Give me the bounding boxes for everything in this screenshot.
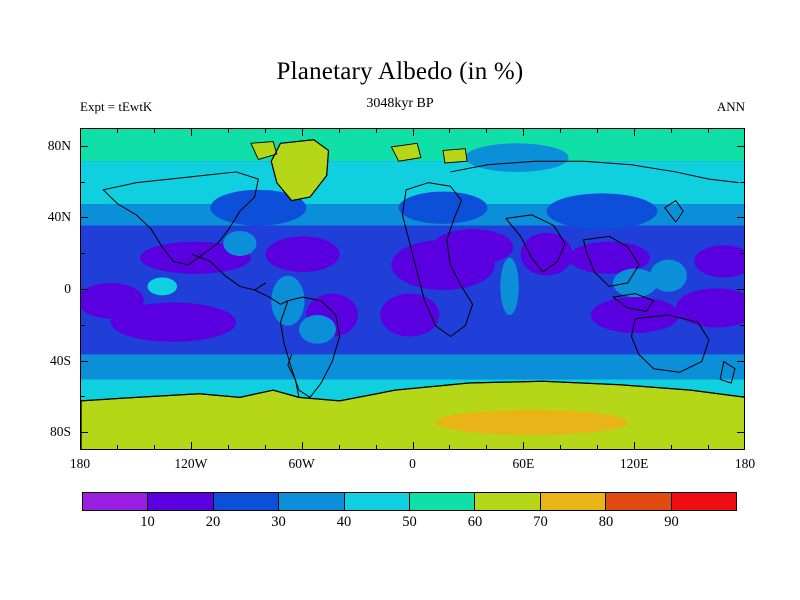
x-tick-top bbox=[376, 128, 377, 133]
albedo-map bbox=[81, 129, 745, 450]
y-tick bbox=[80, 325, 85, 326]
x-tick-top bbox=[523, 128, 524, 136]
x-axis-label: 180 bbox=[735, 456, 755, 472]
colorbar-tick-label: 80 bbox=[599, 514, 614, 531]
colorbar-band[interactable] bbox=[147, 493, 212, 510]
x-tick-top bbox=[560, 128, 561, 133]
page-title: Planetary Albedo (in %) bbox=[0, 58, 800, 86]
x-tick bbox=[154, 445, 155, 450]
colorbar-band[interactable] bbox=[278, 493, 343, 510]
y-axis-label: 40S bbox=[50, 353, 71, 369]
x-tick-top bbox=[154, 128, 155, 133]
colorbar-tick-label: 40 bbox=[337, 514, 352, 531]
colorbar-band[interactable] bbox=[540, 493, 605, 510]
experiment-label: Expt = tEwtK bbox=[80, 99, 152, 115]
x-tick-top bbox=[339, 128, 340, 133]
x-tick-top bbox=[80, 128, 81, 136]
x-tick-top bbox=[486, 128, 487, 133]
colorbar-band[interactable] bbox=[605, 493, 670, 510]
x-tick-top bbox=[302, 128, 303, 136]
x-tick-top bbox=[413, 128, 414, 136]
x-tick bbox=[80, 442, 81, 450]
x-tick bbox=[744, 442, 745, 450]
colorbar-band[interactable] bbox=[409, 493, 474, 510]
x-axis-label: 120E bbox=[620, 456, 649, 472]
colorbar-band[interactable] bbox=[344, 493, 409, 510]
y-tick bbox=[80, 289, 88, 290]
planetary-albedo-figure: Planetary Albedo (in %) 3048kyr BP Expt … bbox=[0, 0, 800, 600]
colorbar[interactable] bbox=[82, 492, 737, 511]
colorbar-band[interactable] bbox=[474, 493, 539, 510]
x-tick-top bbox=[228, 128, 229, 133]
zonal-band bbox=[81, 354, 745, 379]
y-tick-right bbox=[737, 432, 745, 433]
colorbar-tick-label: 50 bbox=[402, 514, 417, 531]
x-tick bbox=[117, 445, 118, 450]
x-axis-label: 0 bbox=[409, 456, 416, 472]
x-tick bbox=[523, 442, 524, 450]
x-axis-label: 120W bbox=[174, 456, 207, 472]
y-tick-right bbox=[740, 325, 745, 326]
y-tick bbox=[80, 182, 85, 183]
x-tick bbox=[671, 445, 672, 450]
x-tick bbox=[228, 445, 229, 450]
x-tick-top bbox=[265, 128, 266, 133]
colorbar-tick-label: 90 bbox=[664, 514, 679, 531]
colorbar-band[interactable] bbox=[213, 493, 278, 510]
x-axis-label: 180 bbox=[70, 456, 90, 472]
y-tick-right bbox=[737, 217, 745, 218]
x-tick bbox=[449, 445, 450, 450]
colorbar-tick-label: 60 bbox=[468, 514, 483, 531]
x-tick bbox=[339, 445, 340, 450]
y-tick-right bbox=[740, 253, 745, 254]
y-axis-label: 40N bbox=[48, 209, 71, 225]
y-tick-right bbox=[737, 361, 745, 362]
colorbar-tick-label: 30 bbox=[271, 514, 286, 531]
x-tick bbox=[708, 445, 709, 450]
x-tick-top bbox=[634, 128, 635, 136]
x-tick-top bbox=[191, 128, 192, 136]
y-axis-label: 0 bbox=[64, 281, 71, 297]
y-axis-label: 80S bbox=[50, 424, 71, 440]
x-tick bbox=[634, 442, 635, 450]
x-tick bbox=[486, 445, 487, 450]
colorbar-band[interactable] bbox=[671, 493, 736, 510]
y-tick bbox=[80, 146, 88, 147]
colorbar-tick-label: 10 bbox=[140, 514, 155, 531]
y-axis-label: 80N bbox=[48, 138, 71, 154]
x-tick bbox=[376, 445, 377, 450]
x-tick-top bbox=[597, 128, 598, 133]
y-tick-right bbox=[737, 289, 745, 290]
y-tick bbox=[80, 361, 88, 362]
y-tick-right bbox=[740, 182, 745, 183]
x-tick-top bbox=[744, 128, 745, 136]
colorbar-tick-label: 70 bbox=[533, 514, 548, 531]
x-tick bbox=[191, 442, 192, 450]
x-tick bbox=[302, 442, 303, 450]
y-tick bbox=[80, 253, 85, 254]
y-tick-right bbox=[737, 146, 745, 147]
x-tick bbox=[413, 442, 414, 450]
x-tick bbox=[597, 445, 598, 450]
x-tick bbox=[265, 445, 266, 450]
season-label: ANN bbox=[717, 99, 745, 115]
y-tick bbox=[80, 432, 88, 433]
y-tick bbox=[80, 396, 85, 397]
x-axis-label: 60W bbox=[289, 456, 315, 472]
map-plot-area bbox=[80, 128, 745, 450]
x-tick bbox=[560, 445, 561, 450]
colorbar-band[interactable] bbox=[83, 493, 147, 510]
colorbar-tick-label: 20 bbox=[206, 514, 221, 531]
x-tick-top bbox=[117, 128, 118, 133]
x-tick-top bbox=[671, 128, 672, 133]
y-tick bbox=[80, 217, 88, 218]
x-tick-top bbox=[708, 128, 709, 133]
x-tick-top bbox=[449, 128, 450, 133]
x-axis-label: 60E bbox=[512, 456, 534, 472]
y-tick-right bbox=[740, 396, 745, 397]
